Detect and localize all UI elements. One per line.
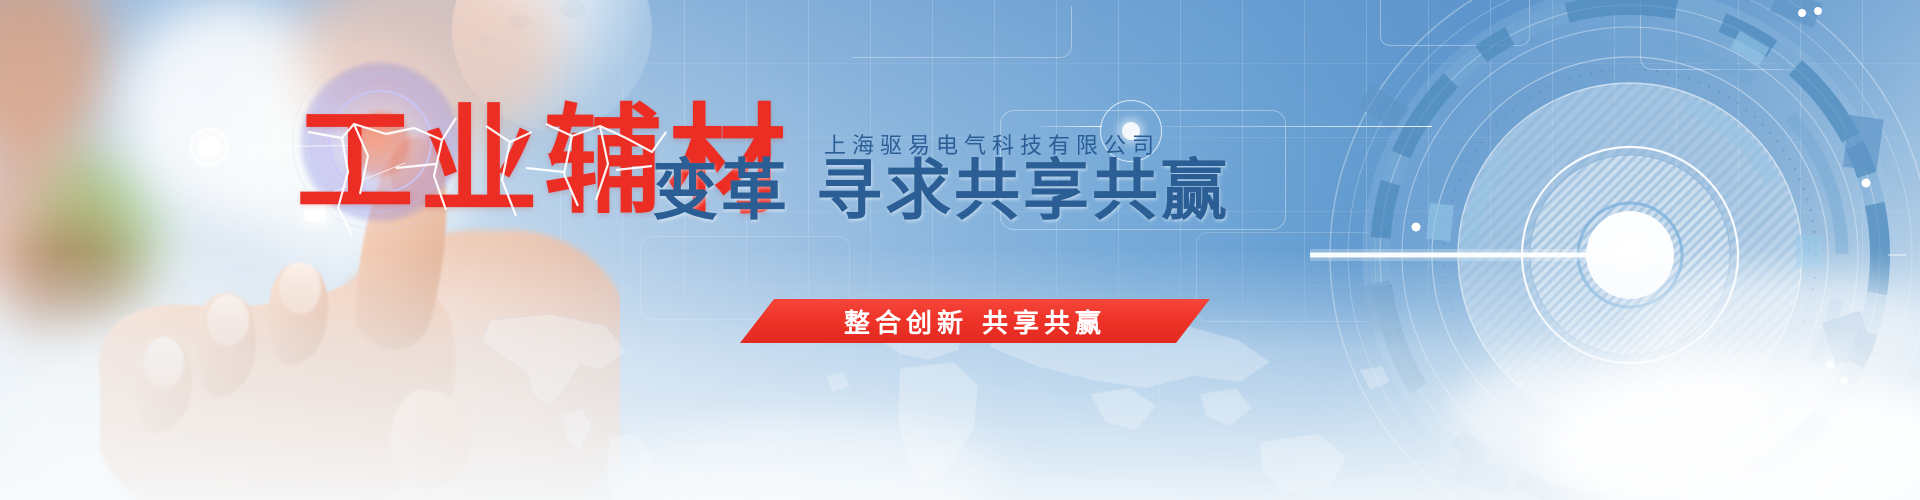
slogan-ribbon: 整合创新 共享共赢 [740, 299, 1210, 343]
company-banner: 工业辅材 上海驱易电气科技有限公司 变革 寻求共享共赢 整合创新 共享共赢 [0, 0, 1920, 500]
connector-line [1040, 126, 1102, 127]
hud-node-dot-icon [198, 136, 220, 158]
circuit-trace-icon [852, 6, 1072, 58]
cloud-icon [1630, 270, 1920, 390]
main-slogan: 变革 寻求共享共赢 [652, 158, 1230, 224]
ribbon-slogan-text: 整合创新 共享共赢 [740, 299, 1210, 343]
connector-line [1162, 126, 1432, 127]
